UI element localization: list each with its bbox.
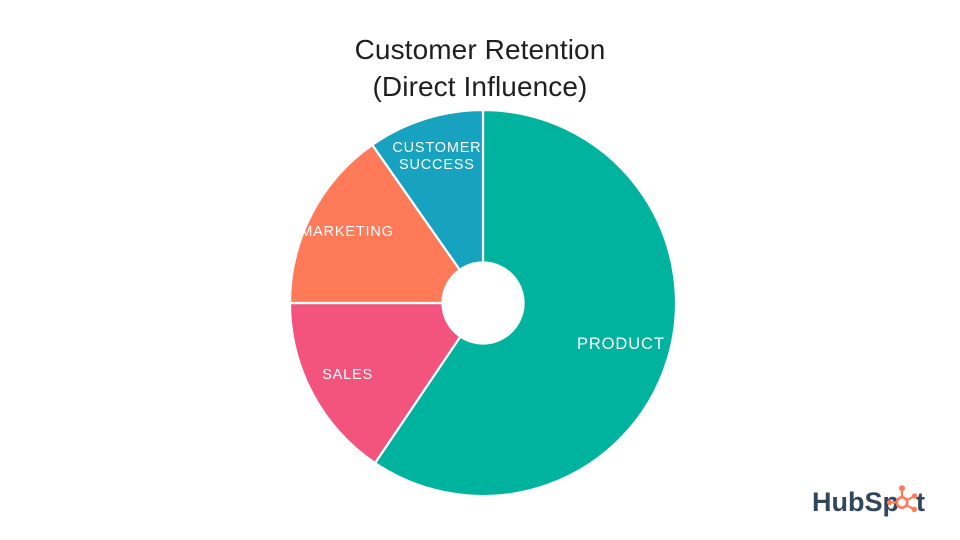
hubspot-logo: HubSp t: [812, 482, 934, 522]
donut-slices: [290, 110, 676, 496]
hubspot-wordmark-left: HubSp: [812, 487, 899, 517]
title-line-2: (Direct Influence): [0, 69, 960, 106]
slide-canvas: Customer Retention (Direct Influence) PR…: [0, 0, 960, 540]
title-line-1: Customer Retention: [0, 32, 960, 69]
page-title: Customer Retention (Direct Influence): [0, 32, 960, 106]
donut-chart-svg: PRODUCTSALESMARKETINGCUSTOMERSUCCESS: [290, 110, 676, 496]
donut-chart: PRODUCTSALESMARKETINGCUSTOMERSUCCESS: [290, 110, 676, 496]
hubspot-wordmark-right: t: [916, 487, 925, 517]
hubspot-logo-svg: HubSp t: [812, 484, 934, 520]
